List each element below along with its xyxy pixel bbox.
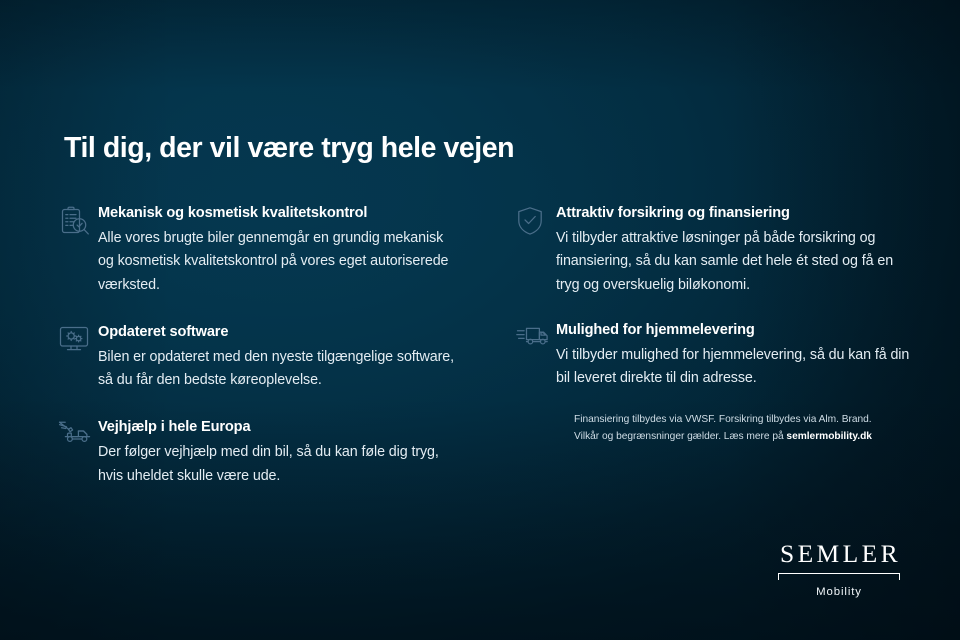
feature-item-home-delivery: Mulighed for hjemmelevering Vi tilbyder … [516,321,914,391]
logo-rule-tick-left [778,573,779,580]
clipboard-check-magnifier-icon [58,206,98,240]
monitor-gears-icon [58,325,98,359]
feature-description: Bilen er opdateret med den nyeste tilgæn… [98,346,456,392]
feature-title: Opdateret software [98,323,456,341]
legal-line-1: Finansiering tilbydes via VWSF. Forsikri… [574,412,904,429]
feature-description: Der følger vejhjælp med din bil, så du k… [98,441,456,487]
page-title: Til dig, der vil være tryg hele vejen [64,131,514,165]
feature-title: Mulighed for hjemmelevering [556,321,914,339]
feature-title: Attraktiv forsikring og finansiering [556,204,914,222]
legal-line-2: Vilkår og begrænsninger gælder. Læs mere… [574,429,904,446]
feature-description: Alle vores brugte biler gennemgår en gru… [98,227,456,296]
shield-check-icon [516,206,556,240]
feature-text-block: Mekanisk og kosmetisk kvalitetskontrol A… [98,204,456,297]
right-feature-column: Attraktiv forsikring og finansiering Vi … [516,204,914,514]
feature-item-updated-software: Opdateret software Bilen er opdateret me… [58,323,456,393]
logo-divider-rule [778,573,900,582]
semler-mobility-logo: SEMLER Mobility [776,541,902,599]
feature-text-block: Vejhjælp i hele Europa Der følger vejhjæ… [98,418,456,488]
legal-website-link[interactable]: semlermobility.dk [786,431,872,442]
feature-text-block: Attraktiv forsikring og finansiering Vi … [556,204,914,297]
feature-description: Vi tilbyder attraktive løsninger på både… [556,227,914,296]
feature-text-block: Opdateret software Bilen er opdateret me… [98,323,456,393]
logo-wordmark: SEMLER [776,541,902,567]
legal-disclaimer: Finansiering tilbydes via VWSF. Forsikri… [574,412,904,445]
feature-item-roadside-assistance: Vejhjælp i hele Europa Der følger vejhjæ… [58,418,456,488]
tow-truck-icon [58,420,98,454]
feature-title: Mekanisk og kosmetisk kvalitetskontrol [98,204,456,222]
logo-subtitle: Mobility [776,586,902,598]
feature-title: Vejhjælp i hele Europa [98,418,456,436]
legal-line-2-prefix: Vilkår og begrænsninger gælder. Læs mere… [574,431,786,442]
feature-item-insurance-financing: Attraktiv forsikring og finansiering Vi … [516,204,914,297]
logo-rule-tick-right [899,573,900,580]
feature-item-quality-control: Mekanisk og kosmetisk kvalitetskontrol A… [58,204,456,297]
feature-text-block: Mulighed for hjemmelevering Vi tilbyder … [556,321,914,391]
delivery-truck-icon [516,323,556,357]
left-feature-column: Mekanisk og kosmetisk kvalitetskontrol A… [58,204,456,514]
feature-columns: Mekanisk og kosmetisk kvalitetskontrol A… [58,204,914,514]
slide-canvas: Til dig, der vil være tryg hele vejen [0,0,960,640]
feature-description: Vi tilbyder mulighed for hjemmelevering,… [556,344,914,390]
